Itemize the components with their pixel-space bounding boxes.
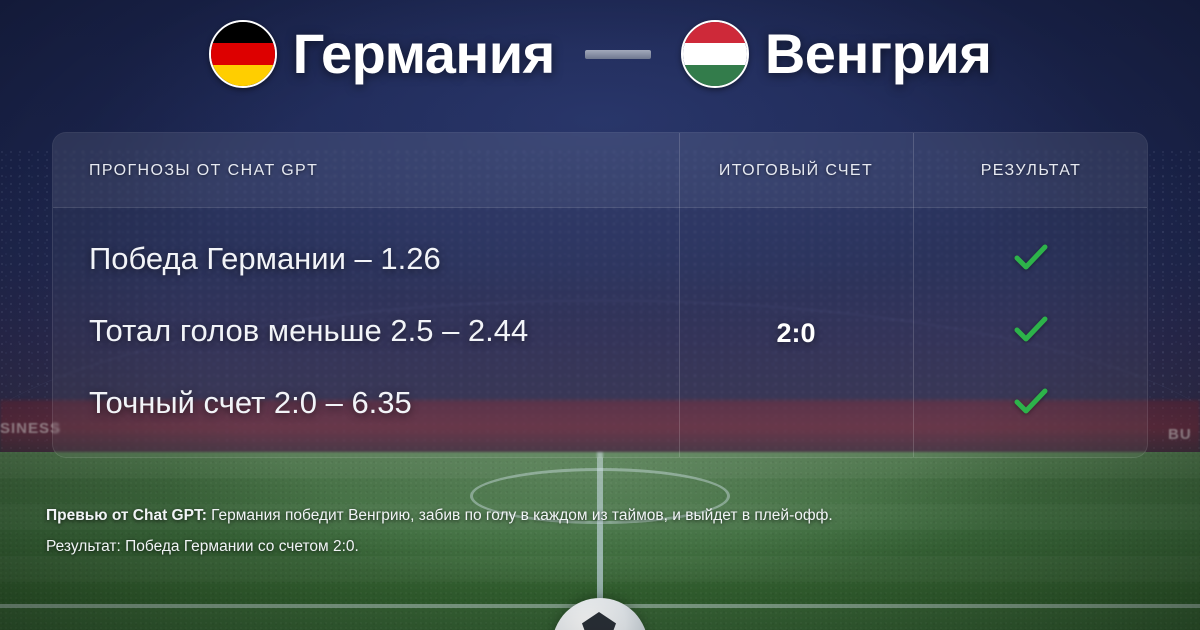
prediction-text: Точный счет 2:0 – 6.35 bbox=[89, 387, 412, 418]
footer-summary: Превью от Chat GPT: Германия победит Вен… bbox=[46, 500, 1156, 562]
footer-result-line: Результат: Победа Германии со счетом 2:0… bbox=[46, 531, 1156, 562]
away-team: Венгрия bbox=[681, 20, 992, 88]
column-header-final-score: ИТОГОВЫЙ СЧЕТ bbox=[679, 133, 913, 208]
final-score-value: 2:0 bbox=[679, 208, 913, 458]
preview-text: Германия победит Венгрию, забив по голу … bbox=[207, 507, 833, 524]
table-row: Тотал голов меньше 2.5 – 2.44 bbox=[53, 294, 1147, 366]
prediction-text: Победа Германии – 1.26 bbox=[89, 243, 441, 274]
check-icon bbox=[1014, 388, 1048, 416]
footer-preview-line: Превью от Chat GPT: Германия победит Вен… bbox=[46, 500, 1156, 531]
predictions-rows: Победа Германии – 1.26 Тотал голов меньш… bbox=[53, 208, 1147, 458]
match-header: Германия Венгрия bbox=[0, 0, 1200, 108]
column-header-result: РЕЗУЛЬТАТ bbox=[913, 133, 1148, 208]
result-cell bbox=[913, 244, 1148, 272]
check-icon bbox=[1014, 316, 1048, 344]
table-row: Точный счет 2:0 – 6.35 bbox=[53, 366, 1147, 438]
adboard-right-text: BU bbox=[1168, 426, 1192, 443]
home-team: Германия bbox=[209, 20, 555, 88]
column-header-predictions: ПРОГНОЗЫ ОТ CHAT GPT bbox=[89, 133, 318, 208]
predictions-panel: ПРОГНОЗЫ ОТ CHAT GPT ИТОГОВЫЙ СЧЕТ РЕЗУЛ… bbox=[52, 132, 1148, 458]
check-icon bbox=[1014, 244, 1048, 272]
result-cell bbox=[913, 316, 1148, 344]
away-team-name: Венгрия bbox=[765, 26, 992, 82]
hungary-flag-icon bbox=[681, 20, 749, 88]
preview-label: Превью от Chat GPT: bbox=[46, 507, 207, 524]
germany-flag-icon bbox=[209, 20, 277, 88]
table-row: Победа Германии – 1.26 bbox=[53, 222, 1147, 294]
prediction-text: Тотал голов меньше 2.5 – 2.44 bbox=[89, 315, 528, 346]
result-cell bbox=[913, 388, 1148, 416]
home-team-name: Германия bbox=[293, 26, 555, 82]
versus-separator-icon bbox=[585, 50, 651, 59]
